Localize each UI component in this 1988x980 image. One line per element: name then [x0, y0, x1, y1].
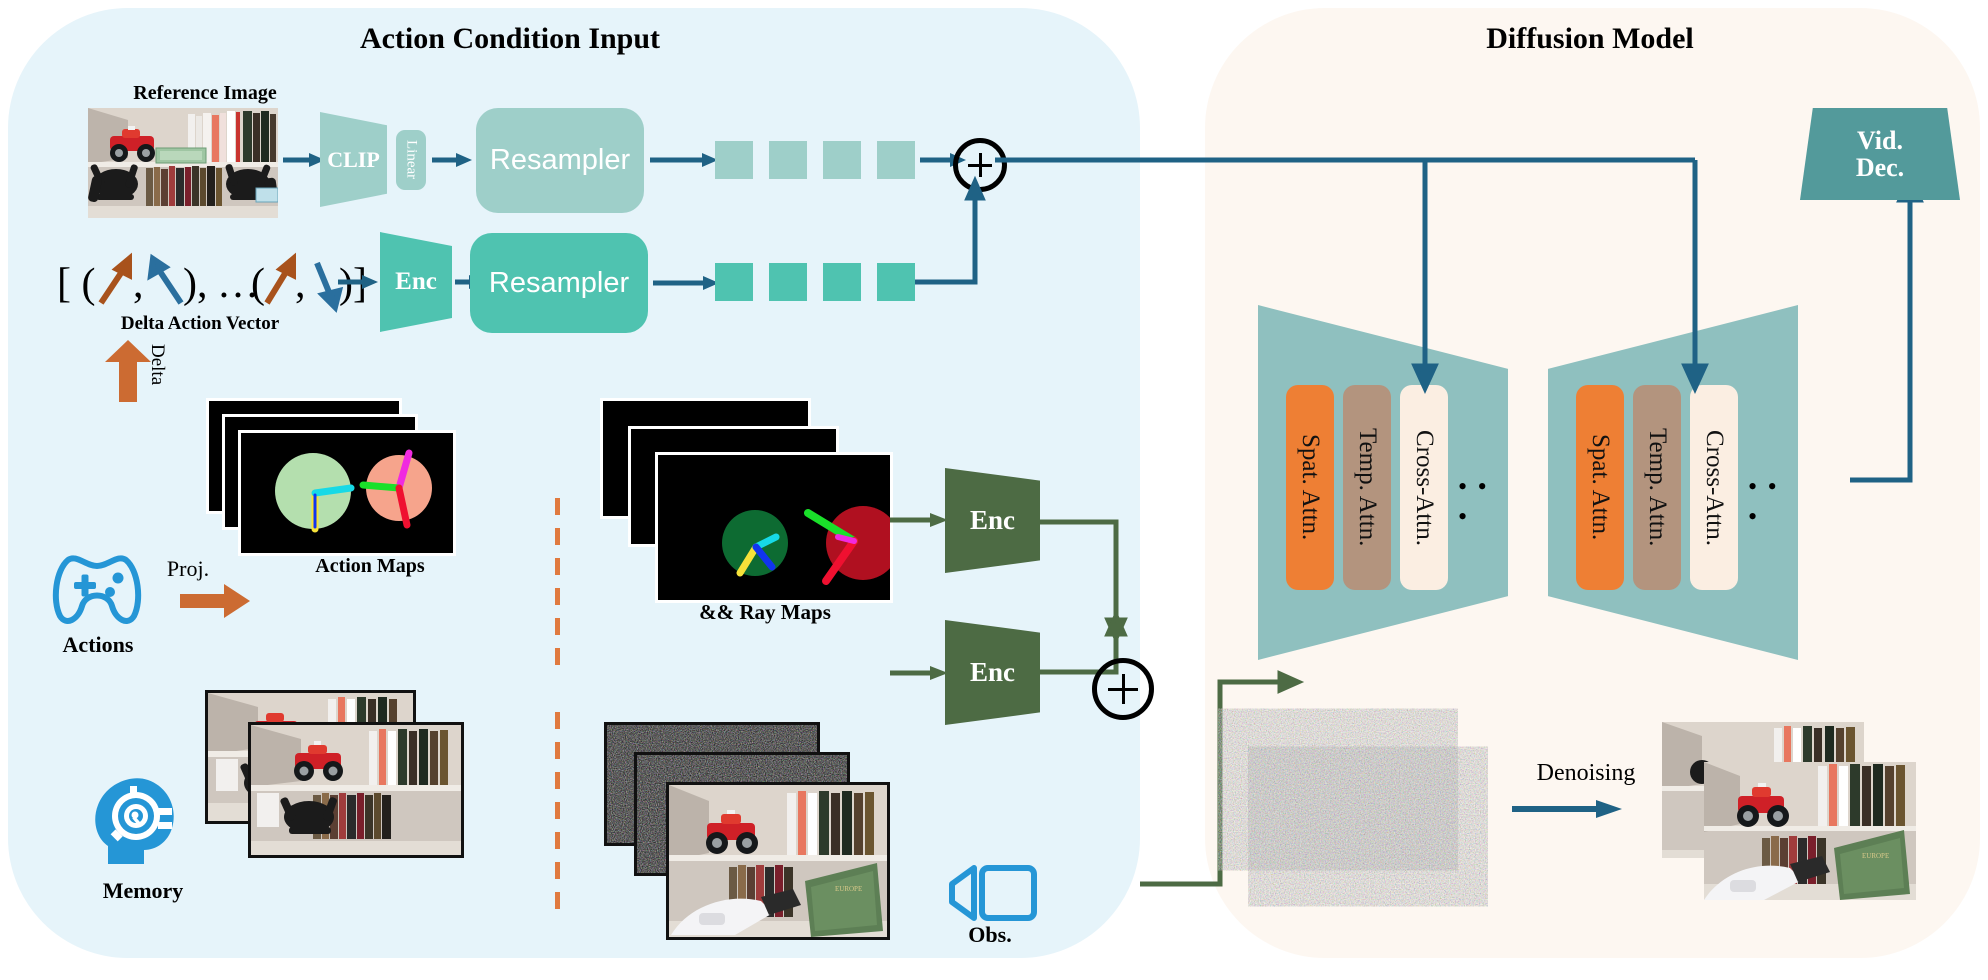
- video-decoder-label-line1: Vid.: [1857, 127, 1903, 154]
- svg-text:),: ),: [183, 261, 208, 307]
- attention-spatial-up: Spat. Attn.: [1576, 385, 1624, 590]
- svg-text:EUROPE: EUROPE: [835, 885, 862, 893]
- attention-spatial-down: Spat. Attn.: [1286, 385, 1334, 590]
- attention-spatial-up-label: Spat. Attn.: [1586, 434, 1614, 540]
- action-token-row: [715, 263, 925, 303]
- resampler-action-block: Resampler: [470, 233, 648, 333]
- ray-map-frame-front: [655, 452, 893, 603]
- action-maps-label: Action Maps: [270, 555, 470, 578]
- delta-action-vector-label: Delta Action Vector: [85, 313, 315, 335]
- camera-icon: [944, 862, 1040, 924]
- attention-temporal-up-label: Temp. Attn.: [1643, 428, 1671, 546]
- arrow-raymaps-to-enc: [890, 510, 948, 530]
- attention-cross-down: Cross-Attn.: [1400, 385, 1448, 590]
- delta-action-vector-expression: [ ( , ), … ( , )]: [55, 245, 365, 320]
- attention-temporal-down: Temp. Attn.: [1343, 385, 1391, 590]
- actions-label: Actions: [38, 632, 158, 658]
- arrow-resampler-to-tokens-top: [650, 150, 718, 170]
- ellipsis-down-block: • • •: [1458, 472, 1508, 532]
- arrow-resampler-to-tokens-bottom: [653, 273, 719, 293]
- attention-cross-down-label: Cross-Attn.: [1410, 430, 1438, 546]
- denoising-input-stack: [1238, 722, 1478, 892]
- attention-cross-up-label: Cross-Attn.: [1700, 430, 1728, 546]
- resampler-image-block: Resampler: [476, 108, 644, 213]
- video-decoder-label-line2: Dec.: [1856, 154, 1904, 181]
- action-map-frame-front: [238, 430, 456, 556]
- action-token: [769, 263, 807, 301]
- attention-temporal-up: Temp. Attn.: [1633, 385, 1681, 590]
- attention-temporal-down-label: Temp. Attn.: [1353, 428, 1381, 546]
- memory-label: Memory: [78, 878, 208, 904]
- connector-action-tokens-to-sum: [915, 176, 995, 291]
- image-token: [769, 141, 807, 179]
- memory-frame-front: [248, 722, 464, 858]
- connector-unet-to-viddec: [1790, 160, 1920, 500]
- action-token: [715, 263, 753, 301]
- panel-title-diffusion-model: Diffusion Model: [1330, 22, 1850, 56]
- action-token: [823, 263, 861, 301]
- reference-image-thumbnail: [88, 108, 278, 218]
- image-token: [715, 141, 753, 179]
- clip-encoder-block: CLIP: [320, 112, 387, 207]
- svg-text:EUROPE: EUROPE: [1862, 852, 1889, 860]
- arrow-ref-to-clip: [283, 150, 325, 170]
- proj-label: Proj.: [148, 556, 228, 582]
- delta-arrow-label: Delta: [146, 344, 166, 404]
- image-token: [823, 141, 861, 179]
- enc-action-label: Enc: [395, 268, 437, 296]
- enc-obs-label: Enc: [970, 657, 1015, 688]
- denoising-label: Denoising: [1516, 760, 1656, 787]
- svg-text:,: ,: [133, 261, 144, 307]
- svg-text:,: ,: [295, 261, 306, 307]
- delta-up-arrow: [105, 340, 151, 402]
- attention-spatial-down-label: Spat. Attn.: [1296, 434, 1324, 540]
- image-token-row: [715, 141, 925, 181]
- dashed-separator-lower: [555, 712, 560, 922]
- image-token: [877, 141, 915, 179]
- arrow-linear-to-resampler: [432, 150, 472, 170]
- video-decoder-block: Vid. Dec.: [1800, 108, 1960, 200]
- enc-raymaps-block: Enc: [945, 468, 1040, 573]
- enc-action-block: Enc: [380, 232, 452, 332]
- clip-label: CLIP: [327, 147, 380, 173]
- denoising-output-stack: EUROPE: [1662, 722, 1922, 897]
- gamepad-icon: [48, 548, 146, 626]
- linear-projection-block: Linear: [396, 130, 426, 190]
- reference-image-label: Reference Image: [105, 82, 305, 105]
- arrow-vector-to-enc: [338, 272, 378, 292]
- ray-maps-label: && Ray Maps: [655, 600, 875, 625]
- dashed-separator-upper: [555, 498, 560, 668]
- attention-cross-up: Cross-Attn.: [1690, 385, 1738, 590]
- resampler-action-label: Resampler: [489, 267, 629, 300]
- panel-title-action-condition-input: Action Condition Input: [250, 22, 770, 56]
- enc-raymaps-label: Enc: [970, 505, 1015, 536]
- observation-frame-front: EUROPE: [666, 782, 890, 940]
- memory-icon: [90, 772, 176, 864]
- arrow-proj: [180, 584, 250, 618]
- linear-label: Linear: [403, 140, 420, 179]
- expr-open-bracket: [ (: [57, 261, 95, 307]
- enc-obs-block: Enc: [945, 620, 1040, 725]
- arrow-denoising: [1512, 798, 1622, 820]
- arrow-obs-to-enc: [890, 663, 948, 683]
- resampler-image-label: Resampler: [490, 144, 630, 177]
- obs-label: Obs.: [935, 922, 1045, 948]
- action-token: [877, 263, 915, 301]
- svg-text:(: (: [251, 261, 265, 307]
